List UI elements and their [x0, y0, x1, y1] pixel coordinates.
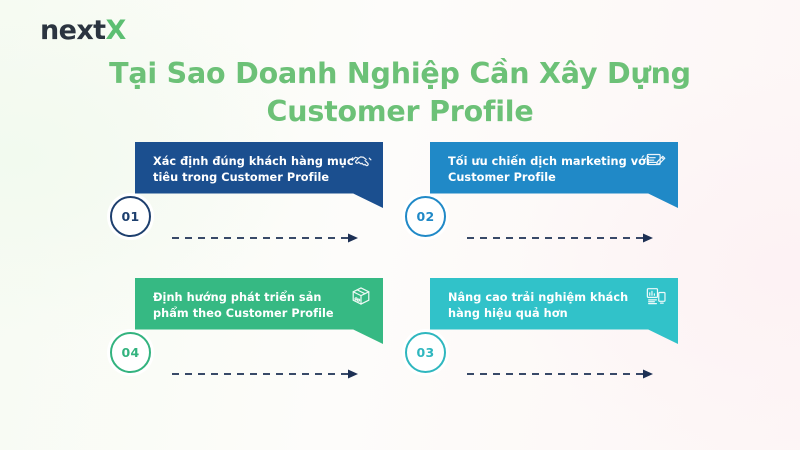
card-banner-04[interactable]: Định hướng phát triển sản phẩm theo Cust…: [135, 278, 383, 344]
card-text-04: Định hướng phát triển sản phẩm theo Cust…: [153, 290, 358, 322]
handshake-icon: [349, 149, 373, 171]
presentation-chart-icon: [644, 285, 668, 307]
card-text-01: Xác định đúng khách hàng mục tiêu trong …: [153, 154, 358, 186]
progress-arrow-04: [172, 368, 364, 380]
step-badge-02: 02: [405, 196, 446, 237]
progress-arrow-02: [467, 232, 659, 244]
card-text-02: Tối ưu chiến dịch marketing với Customer…: [448, 154, 653, 186]
card-banner-03[interactable]: Nâng cao trải nghiệm khách hàng hiệu quả…: [430, 278, 678, 344]
card-text-03: Nâng cao trải nghiệm khách hàng hiệu quả…: [448, 290, 653, 322]
package-box-icon: [349, 285, 373, 307]
infographic-board: Xác định đúng khách hàng mục tiêu trong …: [0, 0, 800, 450]
infographic-item-02: Tối ưu chiến dịch marketing với Customer…: [405, 142, 705, 267]
card-banner-02[interactable]: Tối ưu chiến dịch marketing với Customer…: [430, 142, 678, 208]
document-edit-icon: [644, 149, 668, 171]
step-badge-04: 04: [110, 332, 151, 373]
progress-arrow-03: [467, 368, 659, 380]
infographic-item-01: Xác định đúng khách hàng mục tiêu trong …: [110, 142, 410, 267]
step-badge-01: 01: [110, 196, 151, 237]
progress-arrow-01: [172, 232, 364, 244]
infographic-item-04: Định hướng phát triển sản phẩm theo Cust…: [110, 278, 410, 403]
card-banner-01[interactable]: Xác định đúng khách hàng mục tiêu trong …: [135, 142, 383, 208]
step-badge-03: 03: [405, 332, 446, 373]
infographic-item-03: Nâng cao trải nghiệm khách hàng hiệu quả…: [405, 278, 705, 403]
